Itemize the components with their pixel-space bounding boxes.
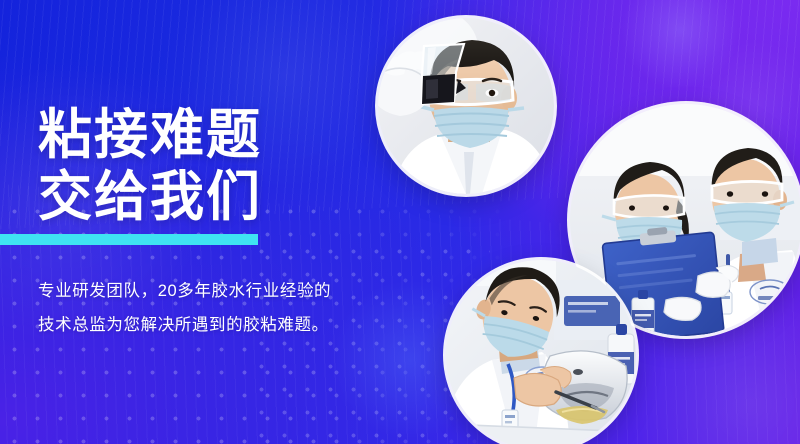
subtitle-line-1: 专业研发团队，20多年胶水行业经验的	[38, 274, 331, 308]
headline-block: 粘接难题 交给我们	[38, 104, 378, 228]
headline-line-1: 粘接难题	[38, 104, 378, 166]
headline-underline-accent	[0, 234, 258, 245]
adhesive-promo-banner: 粘接难题 交给我们 专业研发团队，20多年胶水行业经验的 技术总监为您解决所遇到…	[0, 0, 800, 444]
subtitle-block: 专业研发团队，20多年胶水行业经验的 技术总监为您解决所遇到的胶粘难题。	[38, 274, 331, 342]
photo-technician-applying-adhesive	[446, 260, 636, 444]
headline-line-2: 交给我们	[38, 166, 378, 228]
light-orb-violet	[620, 0, 740, 90]
photo-scientist-with-beaker	[378, 18, 554, 194]
subtitle-line-2: 技术总监为您解决所遇到的胶粘难题。	[38, 308, 331, 342]
